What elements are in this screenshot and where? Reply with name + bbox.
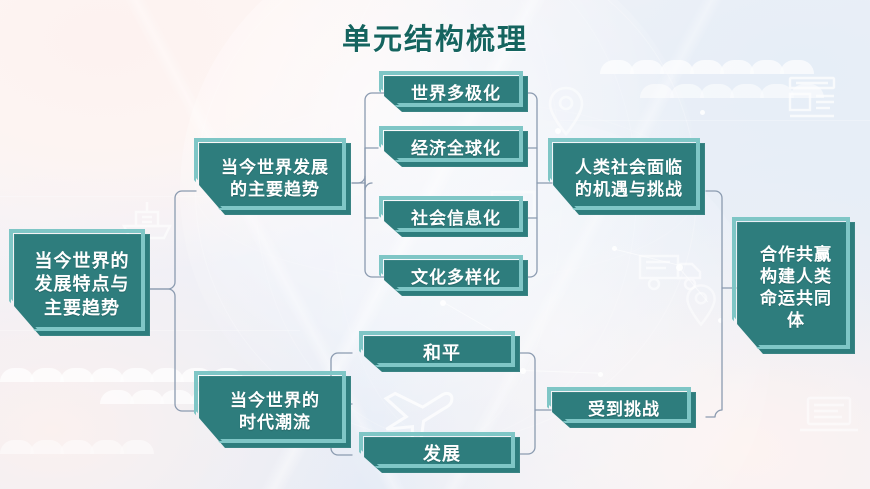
node-challenged-label: 受到挑战 xyxy=(582,399,666,421)
node-conclusion-label: 合作共赢 构建人类 命运共同 体 xyxy=(754,244,838,332)
node-branch-trends[interactable]: 当今世界发展 的主要趋势 xyxy=(199,143,351,215)
network-dot xyxy=(700,110,705,115)
node-branch-trends-label: 当今世界发展 的主要趋势 xyxy=(215,157,335,201)
wave-decoration-5 xyxy=(0,440,170,454)
node-opportunity-challenge[interactable]: 人类社会面临 的机遇与挑战 xyxy=(553,143,705,215)
node-trend-informatization-label: 社会信息化 xyxy=(405,208,507,230)
node-trend-multipolar-label: 世界多极化 xyxy=(405,83,507,105)
slide-canvas: 单元结构梳理 当今世界的 发展特点与 主要趋势 当今世界发展 的主要趋势 当今世… xyxy=(0,0,870,489)
node-trend-globalization-label: 经济全球化 xyxy=(405,138,507,160)
page-title: 单元结构梳理 xyxy=(0,16,870,58)
node-opportunity-challenge-label: 人类社会面临 的机遇与挑战 xyxy=(569,157,689,201)
node-root-label: 当今世界的 发展特点与 主要趋势 xyxy=(29,250,136,320)
wave-decoration-2 xyxy=(640,84,840,98)
network-dot xyxy=(718,318,723,323)
node-branch-era-label: 当今世界的 时代潮流 xyxy=(224,390,326,434)
node-trend-cultural-diversity[interactable]: 文化多样化 xyxy=(384,260,528,296)
wave-decoration-1 xyxy=(600,60,830,74)
node-trend-multipolar[interactable]: 世界多极化 xyxy=(384,76,528,112)
node-era-development[interactable]: 发展 xyxy=(364,437,520,473)
node-trend-cultural-diversity-label: 文化多样化 xyxy=(405,267,507,289)
node-trend-informatization[interactable]: 社会信息化 xyxy=(384,201,528,237)
node-root[interactable]: 当今世界的 发展特点与 主要趋势 xyxy=(14,234,150,336)
network-dot xyxy=(555,128,561,134)
node-era-peace[interactable]: 和平 xyxy=(364,336,520,372)
node-branch-era[interactable]: 当今世界的 时代潮流 xyxy=(199,376,351,448)
node-trend-globalization[interactable]: 经济全球化 xyxy=(384,131,528,167)
divider-line-3 xyxy=(560,120,870,121)
node-era-development-label: 发展 xyxy=(417,443,467,466)
node-challenged[interactable]: 受到挑战 xyxy=(552,392,696,428)
node-era-peace-label: 和平 xyxy=(417,342,467,365)
node-conclusion[interactable]: 合作共赢 构建人类 命运共同 体 xyxy=(737,222,855,354)
